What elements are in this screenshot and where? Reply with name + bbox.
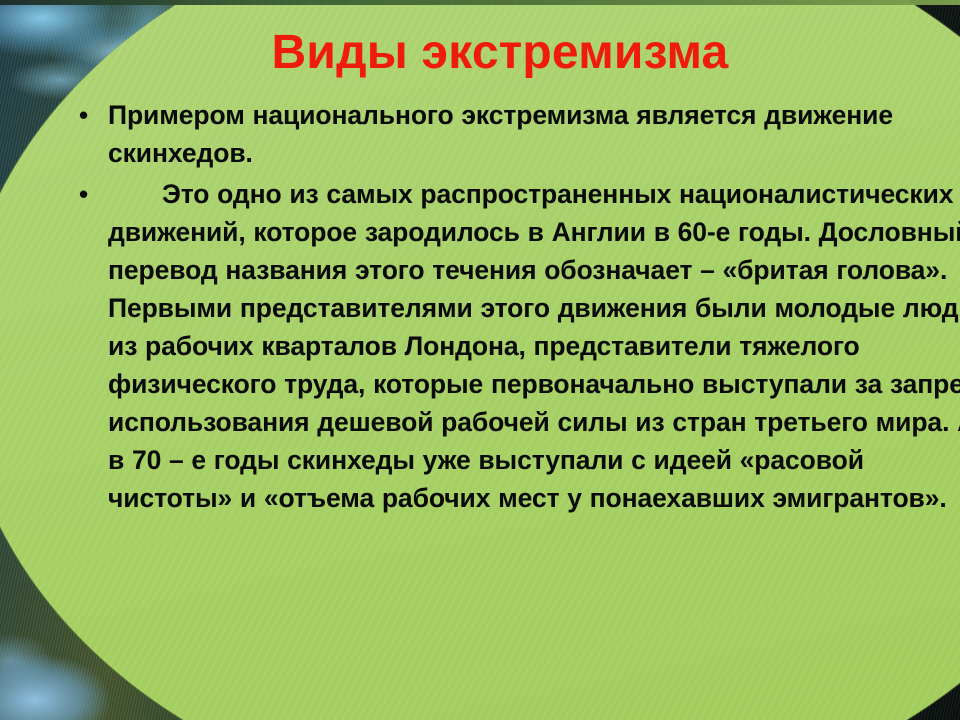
slide-title: Виды экстремизма — [100, 25, 900, 81]
slide-content: Виды экстремизма • Примером национальног… — [0, 0, 960, 720]
bullet-paragraph: • Это одно из самых распространенных нац… — [72, 175, 960, 517]
bullet-point-icon: • — [79, 96, 88, 134]
presentation-slide: Виды экстремизма • Примером национальног… — [0, 0, 960, 720]
bullet-paragraph-text: Это одно из самых распространенных нацио… — [108, 175, 960, 517]
bullet-paragraph-text: Примером национального экстремизма являе… — [108, 100, 893, 168]
slide-body: • Примером национального экстремизма явл… — [72, 96, 956, 518]
bullet-paragraph: • Примером национального экстремизма явл… — [72, 96, 956, 172]
bullet-point-icon: • — [79, 175, 88, 213]
